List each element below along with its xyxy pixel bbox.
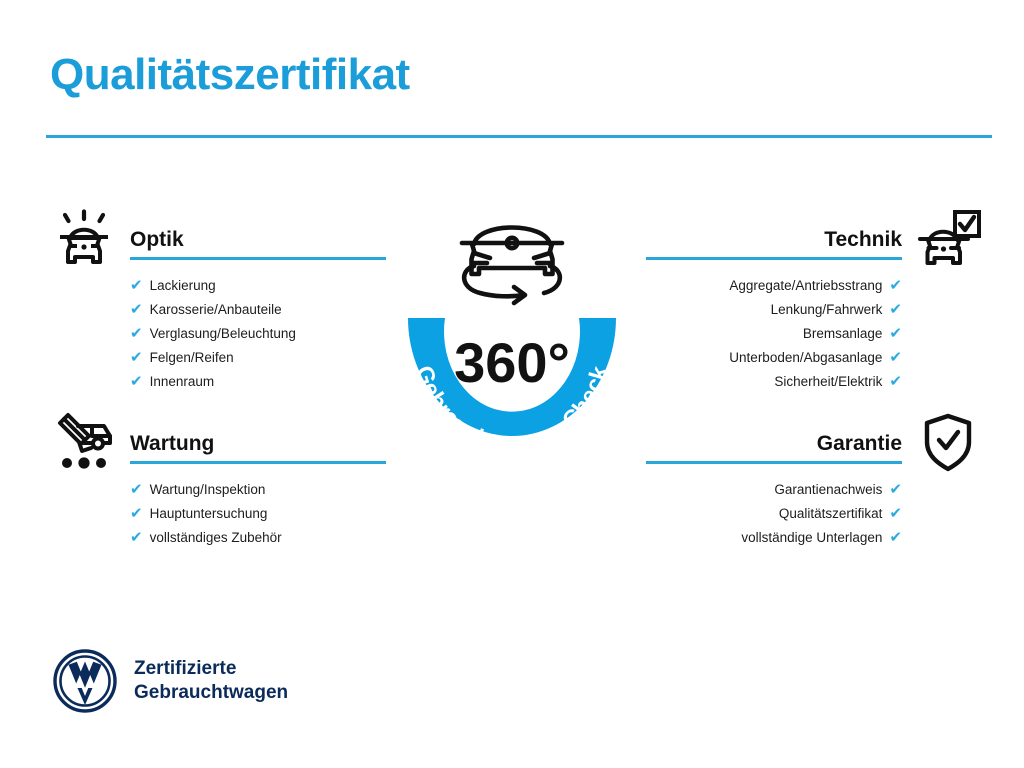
list-item: Qualitätszertifikat ✔ bbox=[634, 502, 902, 526]
badge-360-check: 360° Gebrauchtwagen-Check bbox=[372, 190, 652, 490]
check-icon: ✔ bbox=[889, 278, 902, 293]
checklist-optik: ✔ Lackierung ✔ Karosserie/Anbauteile ✔ V… bbox=[40, 274, 390, 394]
check-icon: ✔ bbox=[889, 482, 902, 497]
checklist-wartung: ✔ Wartung/Inspektion ✔ Hauptuntersuchung… bbox=[40, 478, 390, 550]
list-item: Garantienachweis ✔ bbox=[634, 478, 902, 502]
brand-line-1: Zertifizierte bbox=[134, 658, 236, 679]
list-item-label: Qualitätszertifikat bbox=[779, 502, 883, 526]
title-divider bbox=[46, 135, 992, 138]
list-item: ✔ Verglasung/Beleuchtung bbox=[130, 322, 390, 346]
list-item-label: Hauptuntersuchung bbox=[150, 502, 268, 526]
list-item: ✔ Hauptuntersuchung bbox=[130, 502, 390, 526]
list-item-label: Innenraum bbox=[150, 370, 215, 394]
list-item: Lenkung/Fahrwerk ✔ bbox=[634, 298, 902, 322]
list-item: vollständige Unterlagen ✔ bbox=[634, 526, 902, 550]
list-item-label: Verglasung/Beleuchtung bbox=[150, 322, 296, 346]
section-title-technik: Technik bbox=[824, 228, 902, 252]
section-title-optik: Optik bbox=[130, 228, 184, 252]
check-icon: ✔ bbox=[130, 530, 143, 545]
check-icon: ✔ bbox=[889, 302, 902, 317]
list-item-label: Garantienachweis bbox=[774, 478, 882, 502]
list-item-label: vollständiges Zubehör bbox=[150, 526, 282, 550]
check-icon: ✔ bbox=[130, 482, 143, 497]
check-icon: ✔ bbox=[130, 506, 143, 521]
section-divider-wartung bbox=[130, 461, 386, 464]
check-icon: ✔ bbox=[130, 374, 143, 389]
list-item: ✔ Lackierung bbox=[130, 274, 390, 298]
section-garantie: Garantie Garantienachweis ✔ Qualitätszer… bbox=[634, 418, 984, 550]
section-wartung: Wartung ✔ Wartung/Inspektion ✔ Hauptunte… bbox=[40, 418, 390, 550]
list-item-label: Lackierung bbox=[150, 274, 216, 298]
list-item: Sicherheit/Elektrik ✔ bbox=[634, 370, 902, 394]
list-item-label: Aggregate/Antriebsstrang bbox=[729, 274, 882, 298]
check-icon: ✔ bbox=[130, 278, 143, 293]
section-title-garantie: Garantie bbox=[817, 432, 902, 456]
check-icon: ✔ bbox=[889, 530, 902, 545]
section-divider-technik bbox=[646, 257, 902, 260]
section-divider-optik bbox=[130, 257, 386, 260]
list-item-label: Bremsanlage bbox=[803, 322, 883, 346]
section-technik: Technik Aggregate/Antriebsstrang ✔ Lenku… bbox=[634, 214, 984, 394]
list-item: ✔ Karosserie/Anbauteile bbox=[130, 298, 390, 322]
list-item-label: vollständige Unterlagen bbox=[741, 526, 882, 550]
check-icon: ✔ bbox=[889, 350, 902, 365]
list-item-label: Felgen/Reifen bbox=[150, 346, 234, 370]
volkswagen-logo-icon bbox=[52, 648, 118, 714]
list-item-label: Wartung/Inspektion bbox=[150, 478, 266, 502]
list-item: ✔ Wartung/Inspektion bbox=[130, 478, 390, 502]
check-icon: ✔ bbox=[130, 350, 143, 365]
list-item: Bremsanlage ✔ bbox=[634, 322, 902, 346]
certificate-page: Qualitätszertifikat bbox=[0, 0, 1024, 768]
check-icon: ✔ bbox=[130, 326, 143, 341]
checklist-garantie: Garantienachweis ✔ Qualitätszertifikat ✔… bbox=[634, 478, 984, 550]
badge-center-label: 360° bbox=[454, 331, 570, 394]
page-title: Qualitätszertifikat bbox=[50, 52, 410, 98]
section-divider-garantie bbox=[646, 461, 902, 464]
section-optik: Optik ✔ Lackierung ✔ Karosserie/Anbautei… bbox=[40, 214, 390, 394]
list-item-label: Sicherheit/Elektrik bbox=[774, 370, 882, 394]
list-item: Unterboden/Abgasanlage ✔ bbox=[634, 346, 902, 370]
list-item: ✔ vollständiges Zubehör bbox=[130, 526, 390, 550]
footer-brand: Zertifizierte Gebrauchtwagen bbox=[52, 648, 288, 714]
section-title-wartung: Wartung bbox=[130, 432, 214, 456]
check-icon: ✔ bbox=[889, 374, 902, 389]
car-rotate-360-icon bbox=[462, 228, 562, 304]
brand-line-2: Gebrauchtwagen bbox=[134, 682, 288, 703]
list-item: Aggregate/Antriebsstrang ✔ bbox=[634, 274, 902, 298]
check-icon: ✔ bbox=[889, 326, 902, 341]
check-icon: ✔ bbox=[130, 302, 143, 317]
check-icon: ✔ bbox=[889, 506, 902, 521]
list-item-label: Unterboden/Abgasanlage bbox=[729, 346, 882, 370]
list-item-label: Karosserie/Anbauteile bbox=[150, 298, 282, 322]
brand-wordmark: Zertifizierte Gebrauchtwagen bbox=[134, 657, 288, 706]
list-item: ✔ Innenraum bbox=[130, 370, 390, 394]
list-item-label: Lenkung/Fahrwerk bbox=[771, 298, 883, 322]
checklist-technik: Aggregate/Antriebsstrang ✔ Lenkung/Fahrw… bbox=[634, 274, 984, 394]
list-item: ✔ Felgen/Reifen bbox=[130, 346, 390, 370]
